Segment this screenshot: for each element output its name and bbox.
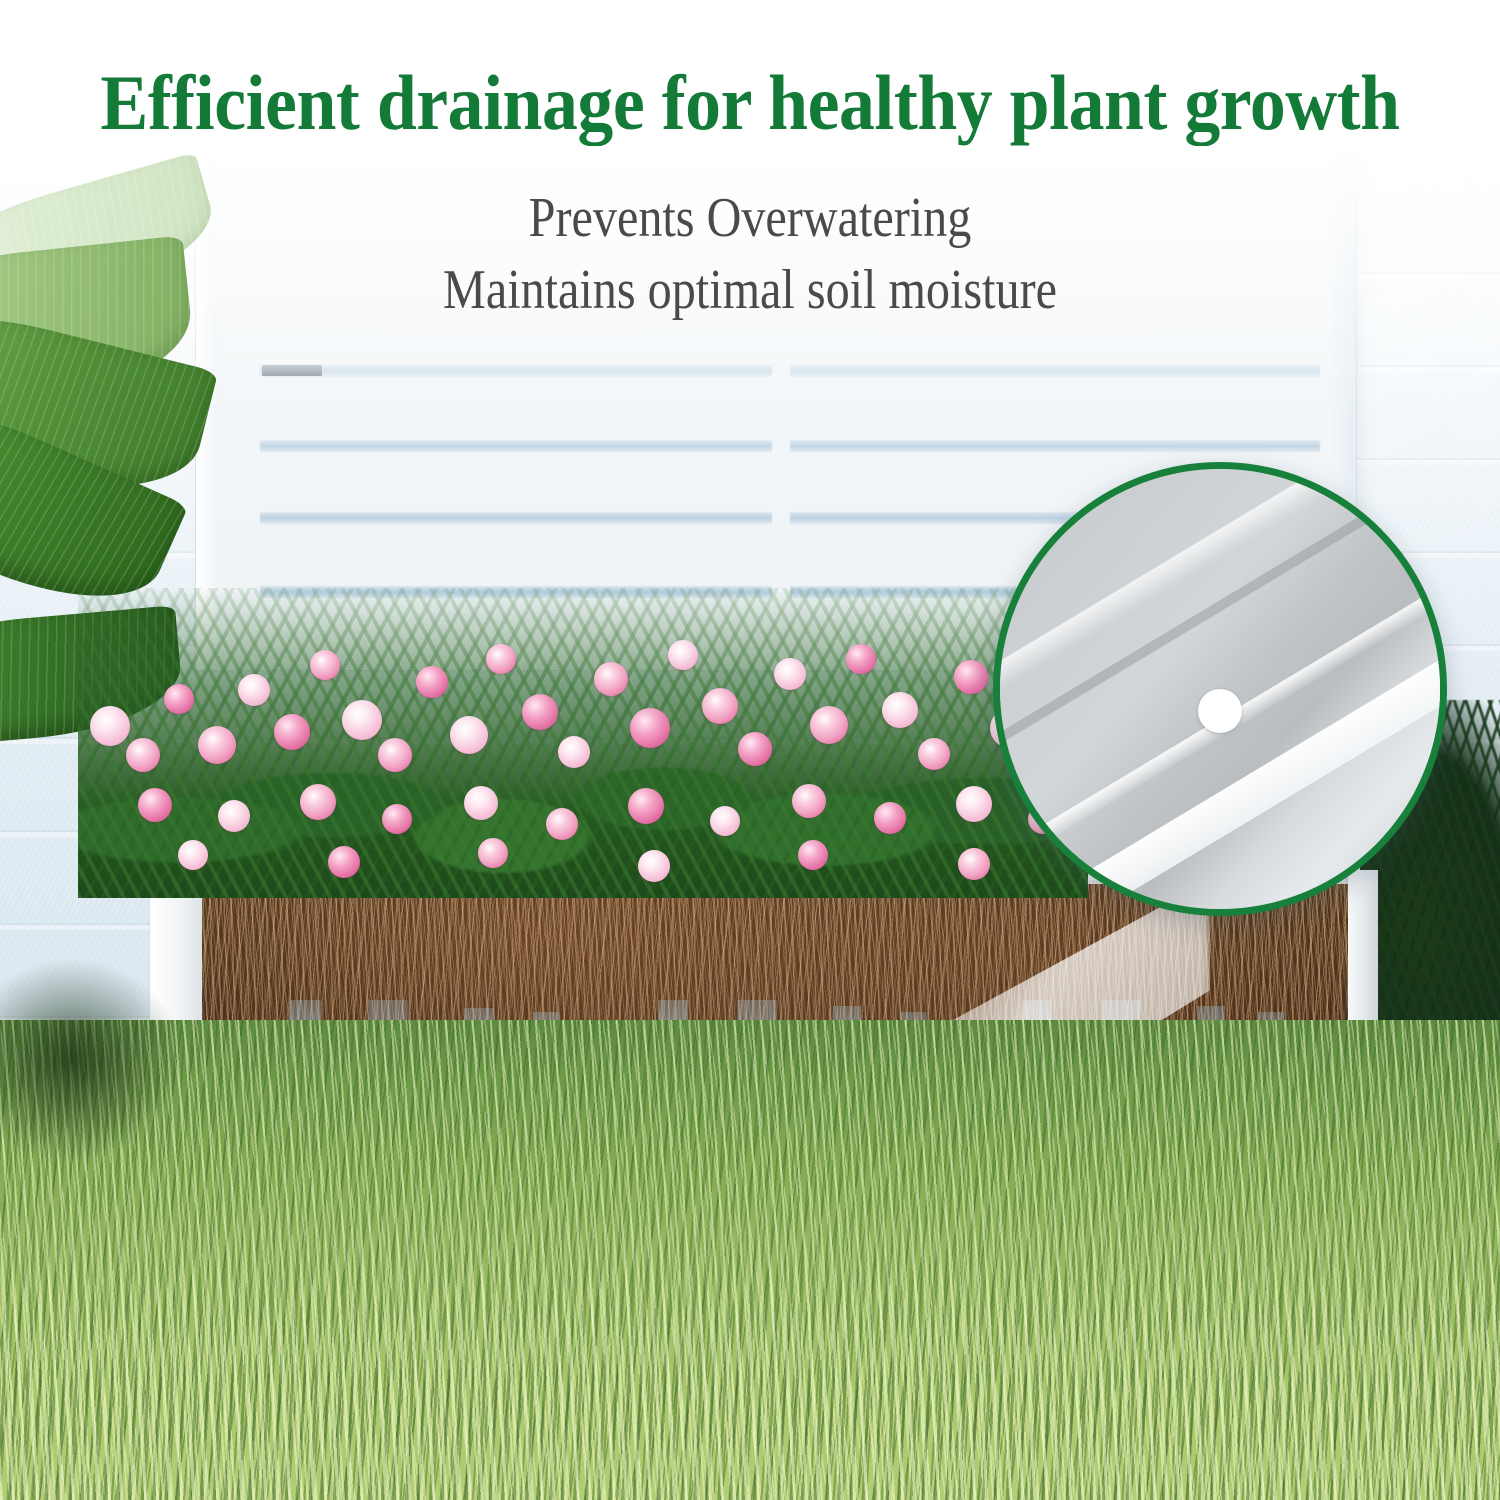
rose-bloom xyxy=(198,726,236,764)
rose-bloom xyxy=(954,660,988,694)
rose-bloom xyxy=(874,802,906,834)
rose-bloom xyxy=(798,840,828,870)
pink-rose-plants xyxy=(78,588,1088,898)
rose-bloom xyxy=(638,850,670,882)
rose-bloom xyxy=(738,732,772,766)
page-title: Efficient drainage for healthy plant gro… xyxy=(60,64,1440,142)
rose-bloom xyxy=(90,706,130,746)
subtitle-line-1: Prevents Overwatering xyxy=(105,190,1395,246)
panel-slat-gap-3 xyxy=(260,512,772,524)
rose-bloom xyxy=(164,684,194,714)
drainage-hole-icon xyxy=(1198,689,1242,733)
rose-bloom xyxy=(274,714,310,750)
rose-bloom xyxy=(810,706,848,744)
drainage-hole-magnifier[interactable] xyxy=(993,462,1447,916)
panel-slat-gap-2 xyxy=(790,440,1320,452)
rose-bloom xyxy=(594,662,628,696)
rose-bloom xyxy=(668,640,698,670)
rose-bloom xyxy=(546,808,578,840)
rose-bloom xyxy=(628,788,664,824)
lawn-left-shadow xyxy=(0,960,180,1160)
rose-bloom xyxy=(522,694,558,730)
rose-bloom xyxy=(882,692,918,728)
product-feature-image: Efficient drainage for healthy plant gro… xyxy=(0,0,1500,1500)
rose-bloom xyxy=(238,674,270,706)
rose-bloom xyxy=(450,716,488,754)
rose-bloom xyxy=(958,848,990,880)
grass-lawn xyxy=(0,1020,1500,1500)
rose-bloom xyxy=(956,786,992,822)
rose-bloom xyxy=(382,804,412,834)
rose-bloom xyxy=(138,788,172,822)
rose-bloom xyxy=(846,644,876,674)
rose-bloom xyxy=(218,800,250,832)
rose-bloom xyxy=(342,700,382,740)
rose-bloom xyxy=(630,708,670,748)
rose-bloom xyxy=(178,840,208,870)
rose-bloom xyxy=(710,806,740,836)
rose-bloom xyxy=(486,644,516,674)
rose-bloom xyxy=(328,846,360,878)
rose-bloom xyxy=(478,838,508,868)
rose-bloom xyxy=(310,650,340,680)
rose-bloom xyxy=(792,784,826,818)
panel-slat-gap-2 xyxy=(260,440,772,452)
rose-bloom xyxy=(300,784,336,820)
rose-bloom xyxy=(126,738,160,772)
rose-bloom xyxy=(558,736,590,768)
rose-bloom xyxy=(702,688,738,724)
rose-bloom xyxy=(464,786,498,820)
subtitle-line-2: Maintains optimal soil moisture xyxy=(105,262,1395,318)
grass-blades-foreground xyxy=(0,1200,1500,1500)
rose-bloom xyxy=(378,738,412,772)
rose-bloom xyxy=(774,658,806,690)
rose-bloom xyxy=(918,738,950,770)
rose-bloom xyxy=(416,666,448,698)
